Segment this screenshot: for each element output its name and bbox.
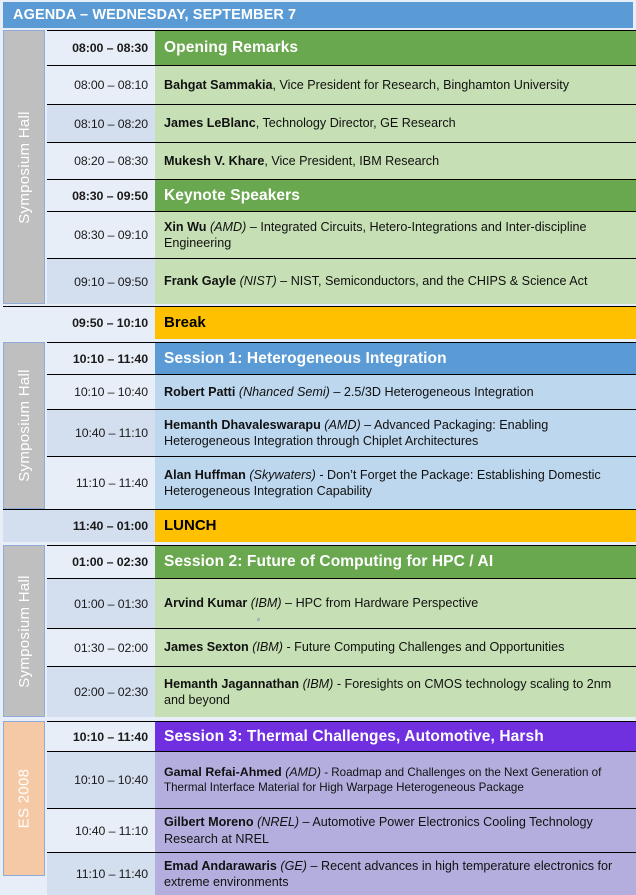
speaker-name: James Sexton	[164, 640, 252, 654]
speaker-affiliation: (Skywaters)	[249, 468, 315, 482]
table-row: 08:20 – 08:30 Mukesh V. Khare, Vice Pres…	[47, 142, 636, 179]
talk-detail: , Vice President for Research, Binghamto…	[273, 78, 570, 92]
speaker-affiliation: (GE)	[280, 859, 307, 873]
table-row: 10:10 – 10:40 Robert Patti (Nhanced Semi…	[47, 374, 636, 409]
speaker-affiliation: (AMD)	[285, 765, 321, 779]
venue-label-text: Symposium Hall	[16, 575, 33, 688]
row-time: 08:00 – 08:30	[47, 31, 155, 65]
lunch-title: LUNCH	[155, 510, 636, 542]
venue-label-text: ES 2008	[16, 769, 33, 829]
table-row: 08:10 – 08:20 James LeBlanc, Technology …	[47, 104, 636, 142]
row-time: 10:10 – 11:40	[47, 722, 155, 751]
row-time: 10:10 – 11:40	[47, 343, 155, 374]
row-time: 01:30 – 02:00	[47, 629, 155, 666]
row-content: James Sexton (IBM) - Future Computing Ch…	[155, 629, 636, 666]
break-title: Break	[155, 307, 636, 339]
table-row: 02:00 – 02:30 Hemanth Jagannathan (IBM) …	[47, 666, 636, 717]
row-time: 08:30 – 09:50	[47, 180, 155, 211]
table-row-lunch: 11:40 – 01:00 LUNCH	[3, 509, 636, 542]
speaker-affiliation: (AMD)	[324, 418, 360, 432]
row-time: 11:40 – 01:00	[3, 510, 155, 542]
speaker-affiliation: (IBM)	[251, 596, 282, 610]
speaker-name: James LeBlanc	[164, 116, 256, 130]
table-row: 10:10 – 11:40 Session 3: Thermal Challen…	[47, 721, 636, 751]
scan-artifact-dot	[257, 618, 260, 621]
row-time: 10:10 – 10:40	[47, 375, 155, 409]
session-header-title: Session 2: Future of Computing for HPC /…	[155, 546, 636, 578]
speaker-affiliation: (NIST)	[240, 274, 277, 288]
speaker-name: Robert Patti	[164, 385, 239, 399]
table-row: 08:30 – 09:50 Keynote Speakers	[47, 179, 636, 211]
speaker-affiliation: (Nhanced Semi)	[239, 385, 330, 399]
talk-detail: – HPC from Hardware Perspective	[282, 596, 479, 610]
venue-label-text: Symposium Hall	[16, 369, 33, 482]
talk-detail: – 2.5/3D Heterogeneous Integration	[330, 385, 534, 399]
table-row: 01:30 – 02:00 James Sexton (IBM) - Futur…	[47, 628, 636, 666]
row-content: Robert Patti (Nhanced Semi) – 2.5/3D Het…	[155, 375, 636, 409]
page-title: AGENDA – WEDNESDAY, SEPTEMBER 7	[3, 2, 633, 28]
row-content: Arvind Kumar (IBM) – HPC from Hardware P…	[155, 579, 636, 628]
table-row: 01:00 – 02:30 Session 2: Future of Compu…	[47, 545, 636, 578]
speaker-name: Arvind Kumar	[164, 596, 251, 610]
row-time: 02:00 – 02:30	[47, 667, 155, 717]
row-time: 10:40 – 11:10	[47, 410, 155, 456]
row-content: Mukesh V. Khare, Vice President, IBM Res…	[155, 143, 636, 179]
speaker-name: Frank Gayle	[164, 274, 240, 288]
agenda-table: AGENDA – WEDNESDAY, SEPTEMBER 7 Symposiu…	[0, 0, 636, 895]
row-time: 09:50 – 10:10	[3, 307, 155, 339]
talk-detail: - Future Computing Challenges and Opport…	[283, 640, 564, 654]
table-row: 11:10 – 11:40 Alan Huffman (Skywaters) -…	[47, 456, 636, 509]
speaker-name: Hemanth Dhavaleswarapu	[164, 418, 324, 432]
speaker-name: Emad Andarawaris	[164, 859, 280, 873]
talk-detail: , Vice President, IBM Research	[264, 154, 439, 168]
speaker-name: Hemanth Jagannathan	[164, 677, 303, 691]
speaker-name: Alan Huffman	[164, 468, 249, 482]
row-time: 08:10 – 08:20	[47, 105, 155, 142]
table-row: 11:10 – 11:40 Emad Andarawaris (GE) – Re…	[47, 852, 636, 895]
talk-detail: , Technology Director, GE Research	[256, 116, 456, 130]
row-time: 10:10 – 10:40	[47, 752, 155, 808]
row-time: 09:10 – 09:50	[47, 259, 155, 304]
speaker-name: Bahgat Sammakia	[164, 78, 273, 92]
speaker-name: Gilbert Moreno	[164, 815, 257, 829]
talk-detail: – NIST, Semiconductors, and the CHIPS & …	[277, 274, 588, 288]
row-time: 01:00 – 01:30	[47, 579, 155, 628]
session-header-title: Keynote Speakers	[155, 180, 636, 211]
row-content: Hemanth Jagannathan (IBM) - Foresights o…	[155, 667, 636, 717]
row-content: James LeBlanc, Technology Director, GE R…	[155, 105, 636, 142]
table-row-break: 09:50 – 10:10 Break	[3, 306, 636, 339]
row-time: 10:40 – 11:10	[47, 809, 155, 852]
table-row: 10:10 – 10:40 Gamal Refai-Ahmed (AMD) - …	[47, 751, 636, 808]
row-time: 08:20 – 08:30	[47, 143, 155, 179]
venue-label-symposium-hall-session1: Symposium Hall	[3, 342, 45, 509]
row-time: 11:10 – 11:40	[47, 457, 155, 509]
table-row: 10:40 – 11:10 Gilbert Moreno (NREL) – Au…	[47, 808, 636, 852]
row-time: 01:00 – 02:30	[47, 546, 155, 578]
speaker-affiliation: (AMD)	[210, 220, 246, 234]
row-content: Frank Gayle (NIST) – NIST, Semiconductor…	[155, 259, 636, 304]
row-content: Xin Wu (AMD) – Integrated Circuits, Hete…	[155, 212, 636, 258]
venue-label-es-2008: ES 2008	[3, 721, 45, 876]
table-row: 08:30 – 09:10 Xin Wu (AMD) – Integrated …	[47, 211, 636, 258]
row-content: Alan Huffman (Skywaters) - Don’t Forget …	[155, 457, 636, 509]
row-content: Emad Andarawaris (GE) – Recent advances …	[155, 853, 636, 895]
table-row: 09:10 – 09:50 Frank Gayle (NIST) – NIST,…	[47, 258, 636, 304]
speaker-affiliation: (NREL)	[257, 815, 299, 829]
table-row: 01:00 – 01:30 Arvind Kumar (IBM) – HPC f…	[47, 578, 636, 628]
row-time: 11:10 – 11:40	[47, 853, 155, 895]
session-header-title: Session 1: Heterogeneous Integration	[155, 343, 636, 374]
table-row: 08:00 – 08:10 Bahgat Sammakia, Vice Pres…	[47, 65, 636, 104]
table-row: 10:10 – 11:40 Session 1: Heterogeneous I…	[47, 342, 636, 374]
row-content: Hemanth Dhavaleswarapu (AMD) – Advanced …	[155, 410, 636, 456]
speaker-affiliation: (IBM)	[303, 677, 334, 691]
row-content: Gilbert Moreno (NREL) – Automotive Power…	[155, 809, 636, 852]
row-time: 08:30 – 09:10	[47, 212, 155, 258]
speaker-name: Gamal Refai-Ahmed	[164, 765, 285, 779]
session-header-title: Session 3: Thermal Challenges, Automotiv…	[155, 722, 636, 751]
speaker-name: Mukesh V. Khare	[164, 154, 264, 168]
venue-label-symposium-hall-session2: Symposium Hall	[3, 545, 45, 717]
table-row: 10:40 – 11:10 Hemanth Dhavaleswarapu (AM…	[47, 409, 636, 456]
row-content: Bahgat Sammakia, Vice President for Rese…	[155, 66, 636, 104]
row-time: 08:00 – 08:10	[47, 66, 155, 104]
session-header-title: Opening Remarks	[155, 31, 636, 65]
speaker-affiliation: (IBM)	[252, 640, 283, 654]
venue-label-symposium-hall-morning: Symposium Hall	[3, 30, 45, 304]
speaker-name: Xin Wu	[164, 220, 210, 234]
row-content: Gamal Refai-Ahmed (AMD) - Roadmap and Ch…	[155, 752, 636, 808]
table-row: 08:00 – 08:30 Opening Remarks	[47, 30, 636, 65]
venue-label-text: Symposium Hall	[16, 111, 33, 224]
